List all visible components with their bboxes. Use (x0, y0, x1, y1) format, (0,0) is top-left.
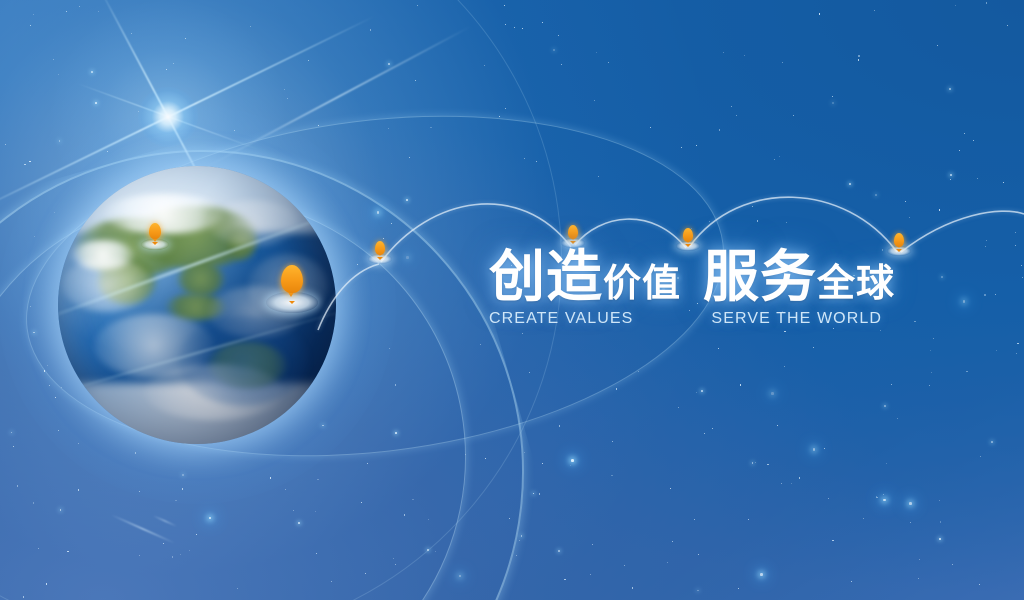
route-arc-2 (575, 219, 686, 248)
hero-banner: 创造 价值 服务 全球 CREATE VALUES SERVE THE WORL… (0, 0, 1024, 600)
route-arc-0 (318, 264, 379, 330)
headline-create: 创造 (489, 249, 603, 305)
subheadline-serve-world: SERVE THE WORLD (711, 311, 882, 327)
subheadline-create-values: CREATE VALUES (489, 311, 633, 327)
headline-world: 全球 (817, 265, 895, 303)
headline-line: 创造 价值 服务 全球 (489, 249, 919, 305)
headline-serve: 服务 (703, 249, 817, 305)
headline-values: 价值 (603, 265, 681, 303)
route-arc-4 (901, 211, 1024, 252)
headline: 创造 价值 服务 全球 (489, 249, 919, 305)
subheadline: CREATE VALUES SERVE THE WORLD (489, 311, 919, 327)
route-arc-3 (690, 197, 897, 252)
